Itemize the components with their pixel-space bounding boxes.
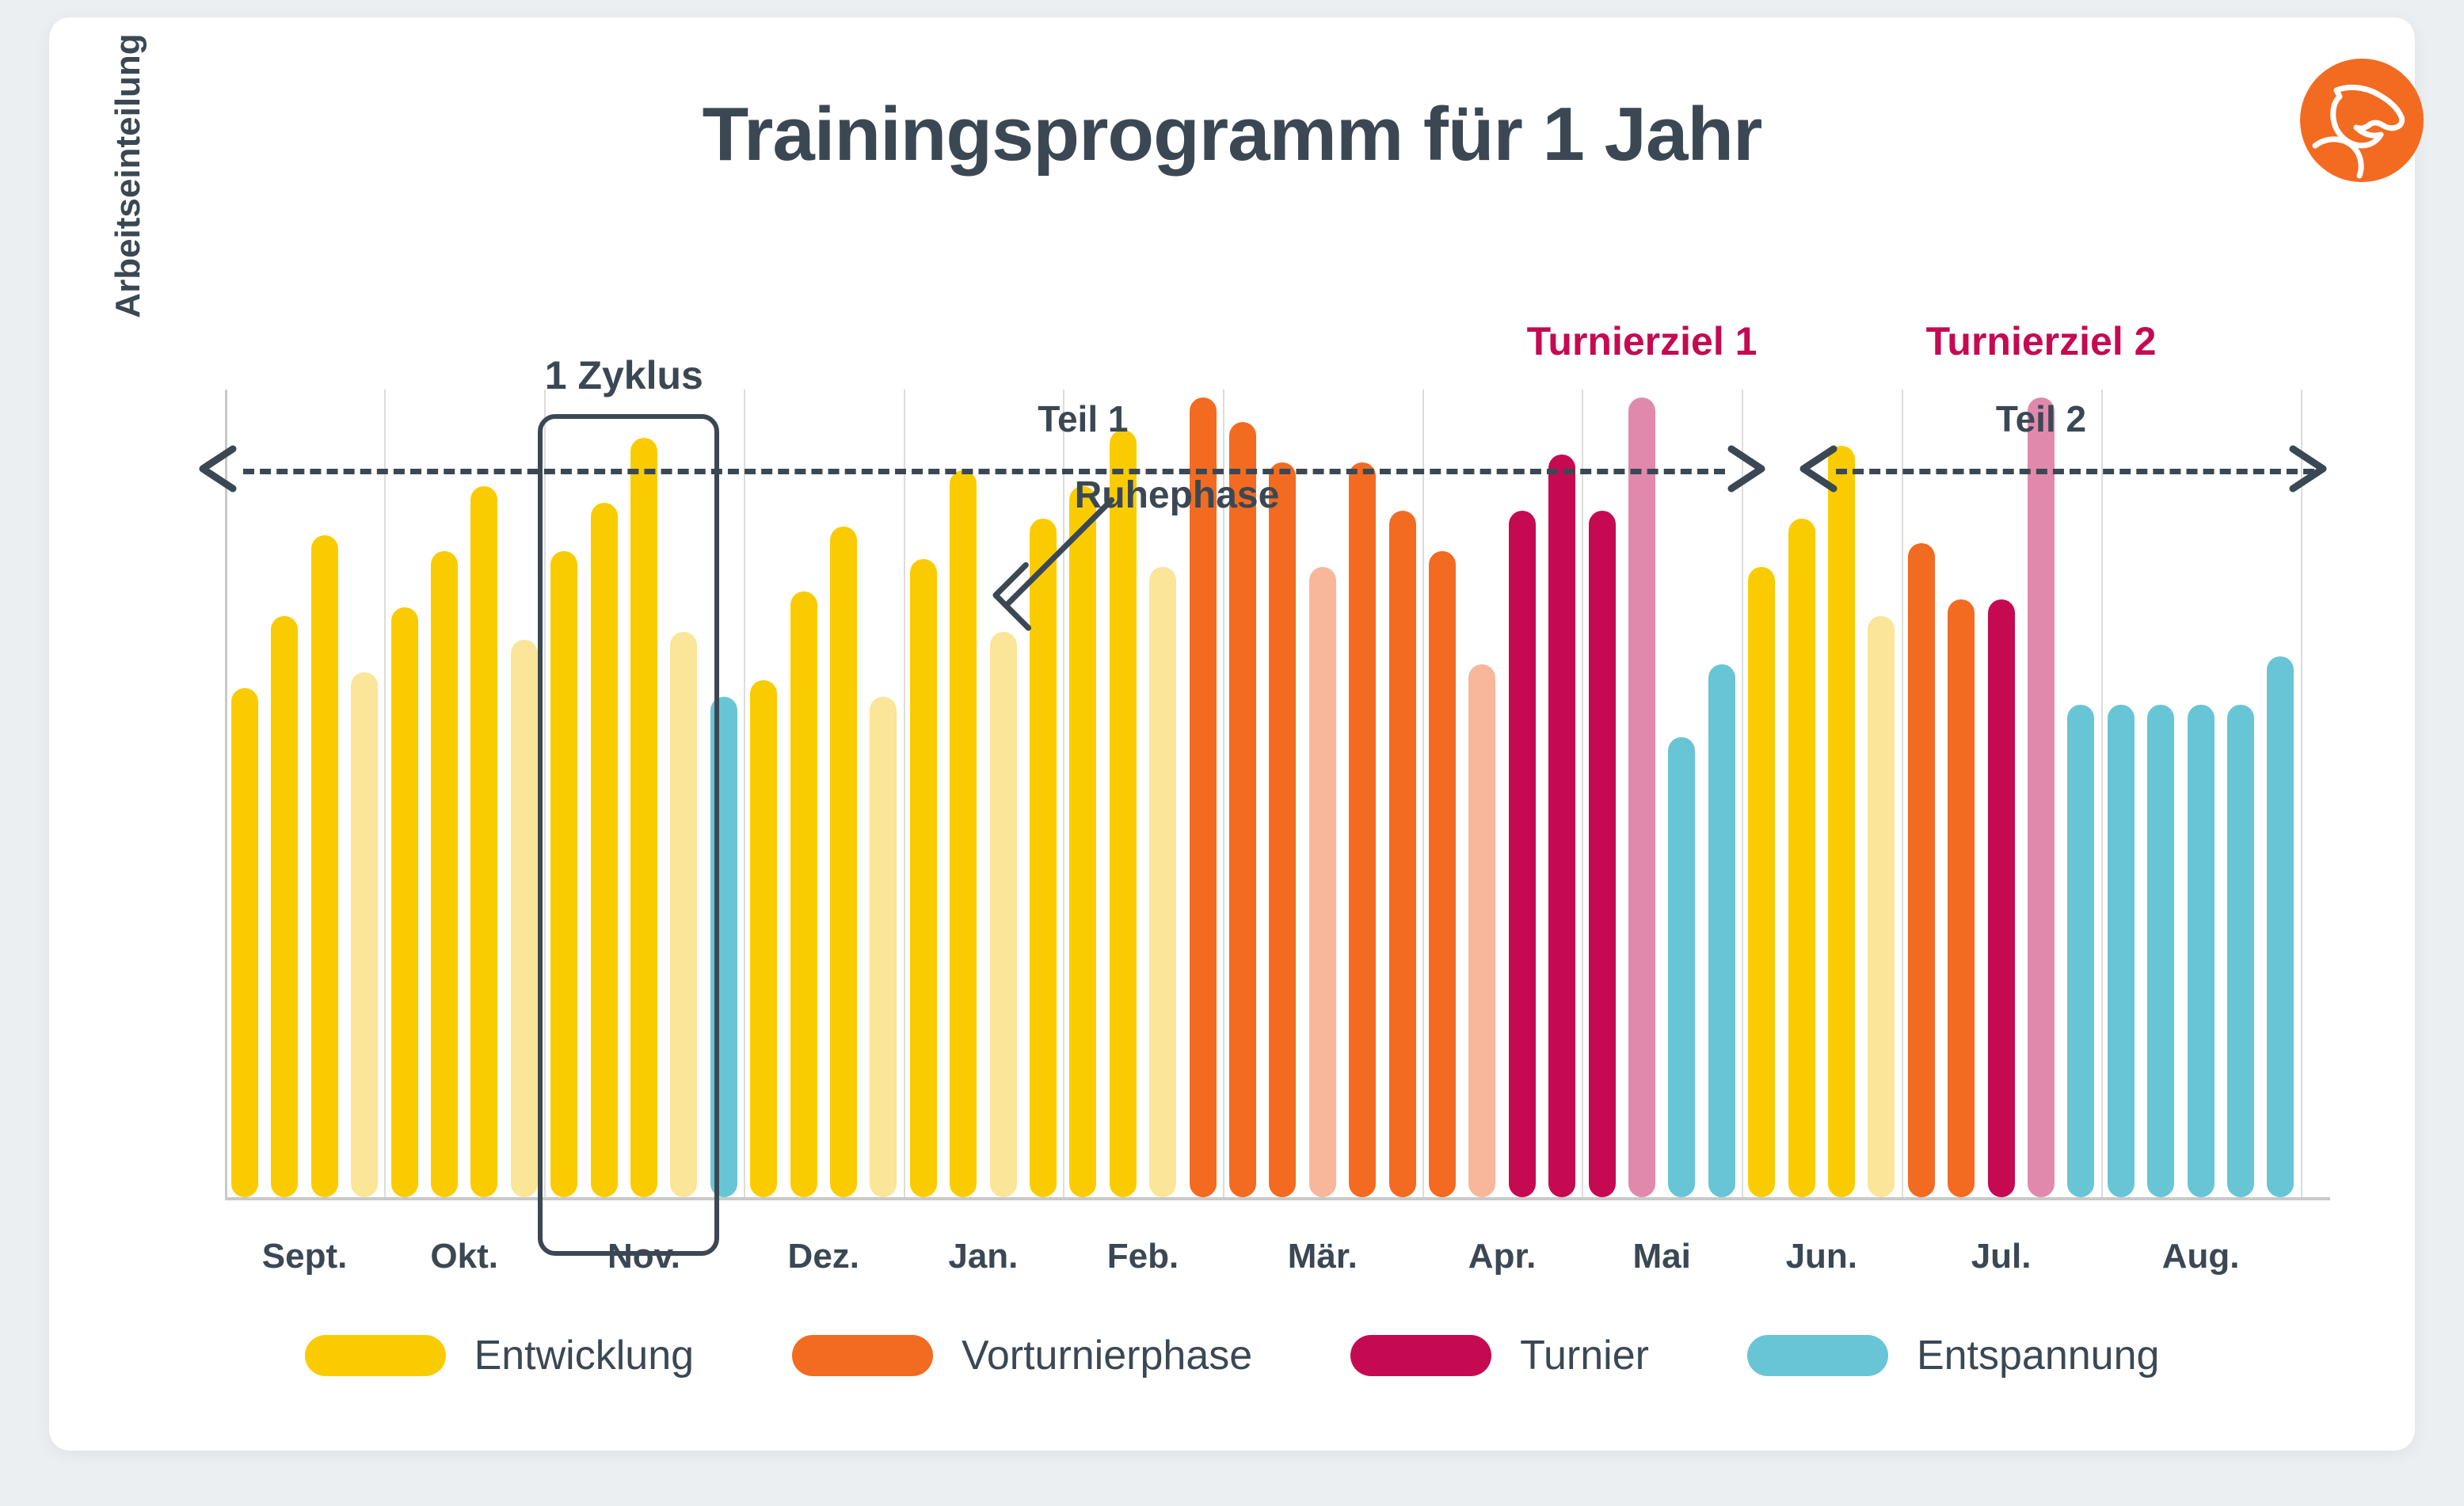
bar-week-20 <box>990 632 1017 1197</box>
teil-2-left-arrow-icon <box>1792 441 1848 496</box>
bar-week-46 <box>2028 397 2055 1197</box>
bar-week-41 <box>1828 446 1855 1197</box>
bar-week-18 <box>910 559 937 1197</box>
legend: EntwicklungVorturnierphaseTurnierEntspan… <box>49 1332 2415 1379</box>
bar-week-52 <box>2267 656 2294 1197</box>
gridline <box>1582 390 1583 1197</box>
bar-week-4 <box>351 672 378 1197</box>
bar-week-26 <box>1229 422 1256 1197</box>
chart-card: Trainingsprogramm für 1 Jahr Arbeitseint… <box>49 17 2415 1451</box>
bar-week-8 <box>511 640 538 1197</box>
y-axis-line <box>225 390 227 1197</box>
bar-week-30 <box>1389 511 1416 1197</box>
gridline <box>2301 390 2302 1197</box>
bar-week-47 <box>2067 705 2094 1197</box>
legend-item-vorturnierphase[interactable]: Vorturnierphase <box>792 1332 1252 1379</box>
gridline <box>2101 390 2103 1197</box>
bar-week-5 <box>391 607 418 1197</box>
x-axis-label-jun: Jun. <box>1786 1237 1857 1276</box>
bar-week-49 <box>2147 705 2174 1197</box>
bar-week-29 <box>1349 462 1376 1197</box>
bar-week-31 <box>1429 551 1456 1197</box>
x-axis-label-apr: Apr. <box>1468 1237 1537 1276</box>
cycle-highlight-box <box>538 414 719 1256</box>
bar-week-17 <box>870 697 897 1197</box>
teil-1-left-arrow-icon <box>192 441 247 496</box>
bar-week-2 <box>271 616 298 1197</box>
teil-1-right-arrow-icon <box>1717 441 1773 496</box>
x-axis-label-jul: Jul. <box>1971 1237 2032 1276</box>
page-title: Trainingsprogramm für 1 Jahr <box>49 97 2415 173</box>
x-axis-label-feb: Feb. <box>1107 1237 1179 1276</box>
bar-week-14 <box>750 680 777 1197</box>
chart-page: Trainingsprogramm für 1 Jahr Arbeitseint… <box>0 0 2464 1506</box>
bar-week-43 <box>1908 543 1935 1197</box>
gridline <box>1902 390 1903 1197</box>
legend-swatch-vorturnierphase <box>792 1335 933 1376</box>
bar-week-1 <box>231 688 258 1197</box>
legend-label: Vorturnierphase <box>962 1332 1252 1379</box>
x-axis-label-jan: Jan. <box>948 1237 1018 1276</box>
bar-week-32 <box>1468 664 1495 1197</box>
teil-2-right-arrow-icon <box>2279 441 2334 496</box>
gridline <box>1422 390 1424 1197</box>
bar-week-16 <box>830 527 857 1197</box>
legend-label: Turnier <box>1520 1332 1649 1379</box>
y-axis-label: Arbeitseinteilung <box>109 0 156 390</box>
bar-week-6 <box>431 551 458 1197</box>
bar-week-40 <box>1788 519 1815 1197</box>
bar-week-39 <box>1748 567 1775 1197</box>
bar-week-42 <box>1868 616 1895 1197</box>
x-axis-label-okt: Okt. <box>430 1237 498 1276</box>
x-axis-label-sept: Sept. <box>262 1237 348 1276</box>
bar-week-3 <box>311 535 338 1197</box>
bar-week-48 <box>2108 705 2135 1197</box>
bar-week-44 <box>1948 599 1975 1197</box>
annotation-teil-1: Teil 1 <box>1038 397 1128 440</box>
ruhephase-pointer-icon <box>980 489 1122 632</box>
teil-1-span-line <box>243 469 1725 474</box>
gridline <box>384 390 386 1197</box>
teil-2-span-line <box>1836 469 2314 474</box>
gridline <box>1742 390 1743 1197</box>
horse-head-logo <box>2291 49 2433 192</box>
gridline <box>904 390 905 1197</box>
bar-week-50 <box>2188 705 2215 1197</box>
bar-week-24 <box>1149 567 1176 1197</box>
annotation-1-zyklus: 1 Zyklus <box>545 352 703 398</box>
legend-swatch-turnier <box>1350 1335 1491 1376</box>
legend-item-entwicklung[interactable]: Entwicklung <box>305 1332 694 1379</box>
legend-label: Entspannung <box>1917 1332 2160 1379</box>
bar-week-15 <box>790 591 817 1197</box>
bar-week-25 <box>1190 397 1217 1197</box>
bar-week-51 <box>2227 705 2254 1197</box>
legend-item-turnier[interactable]: Turnier <box>1350 1332 1649 1379</box>
legend-label: Entwicklung <box>474 1332 694 1379</box>
annotation-turnierziel-1: Turnierziel 1 <box>1527 318 1758 364</box>
bar-week-28 <box>1309 567 1336 1197</box>
bar-week-33 <box>1509 511 1536 1197</box>
bar-week-34 <box>1548 454 1575 1197</box>
legend-swatch-entwicklung <box>305 1335 446 1376</box>
x-axis-label-aug: Aug. <box>2162 1237 2240 1276</box>
gridline <box>744 390 745 1197</box>
bar-week-38 <box>1708 664 1735 1197</box>
annotation-turnierziel-2: Turnierziel 2 <box>1926 318 2157 364</box>
bar-week-37 <box>1668 737 1695 1197</box>
bar-week-27 <box>1269 462 1296 1197</box>
legend-item-entspannung[interactable]: Entspannung <box>1747 1332 2160 1379</box>
bar-week-45 <box>1988 599 2015 1197</box>
bar-week-35 <box>1589 511 1616 1197</box>
bar-week-19 <box>950 470 977 1197</box>
x-axis-label-mai: Mai <box>1633 1237 1691 1276</box>
bar-week-7 <box>470 486 497 1197</box>
legend-swatch-entspannung <box>1747 1335 1888 1376</box>
x-axis-label-dez: Dez. <box>788 1237 859 1276</box>
annotation-teil-2: Teil 2 <box>1996 397 2086 440</box>
bar-week-36 <box>1628 397 1655 1197</box>
x-axis-label-mär: Mär. <box>1288 1237 1358 1276</box>
